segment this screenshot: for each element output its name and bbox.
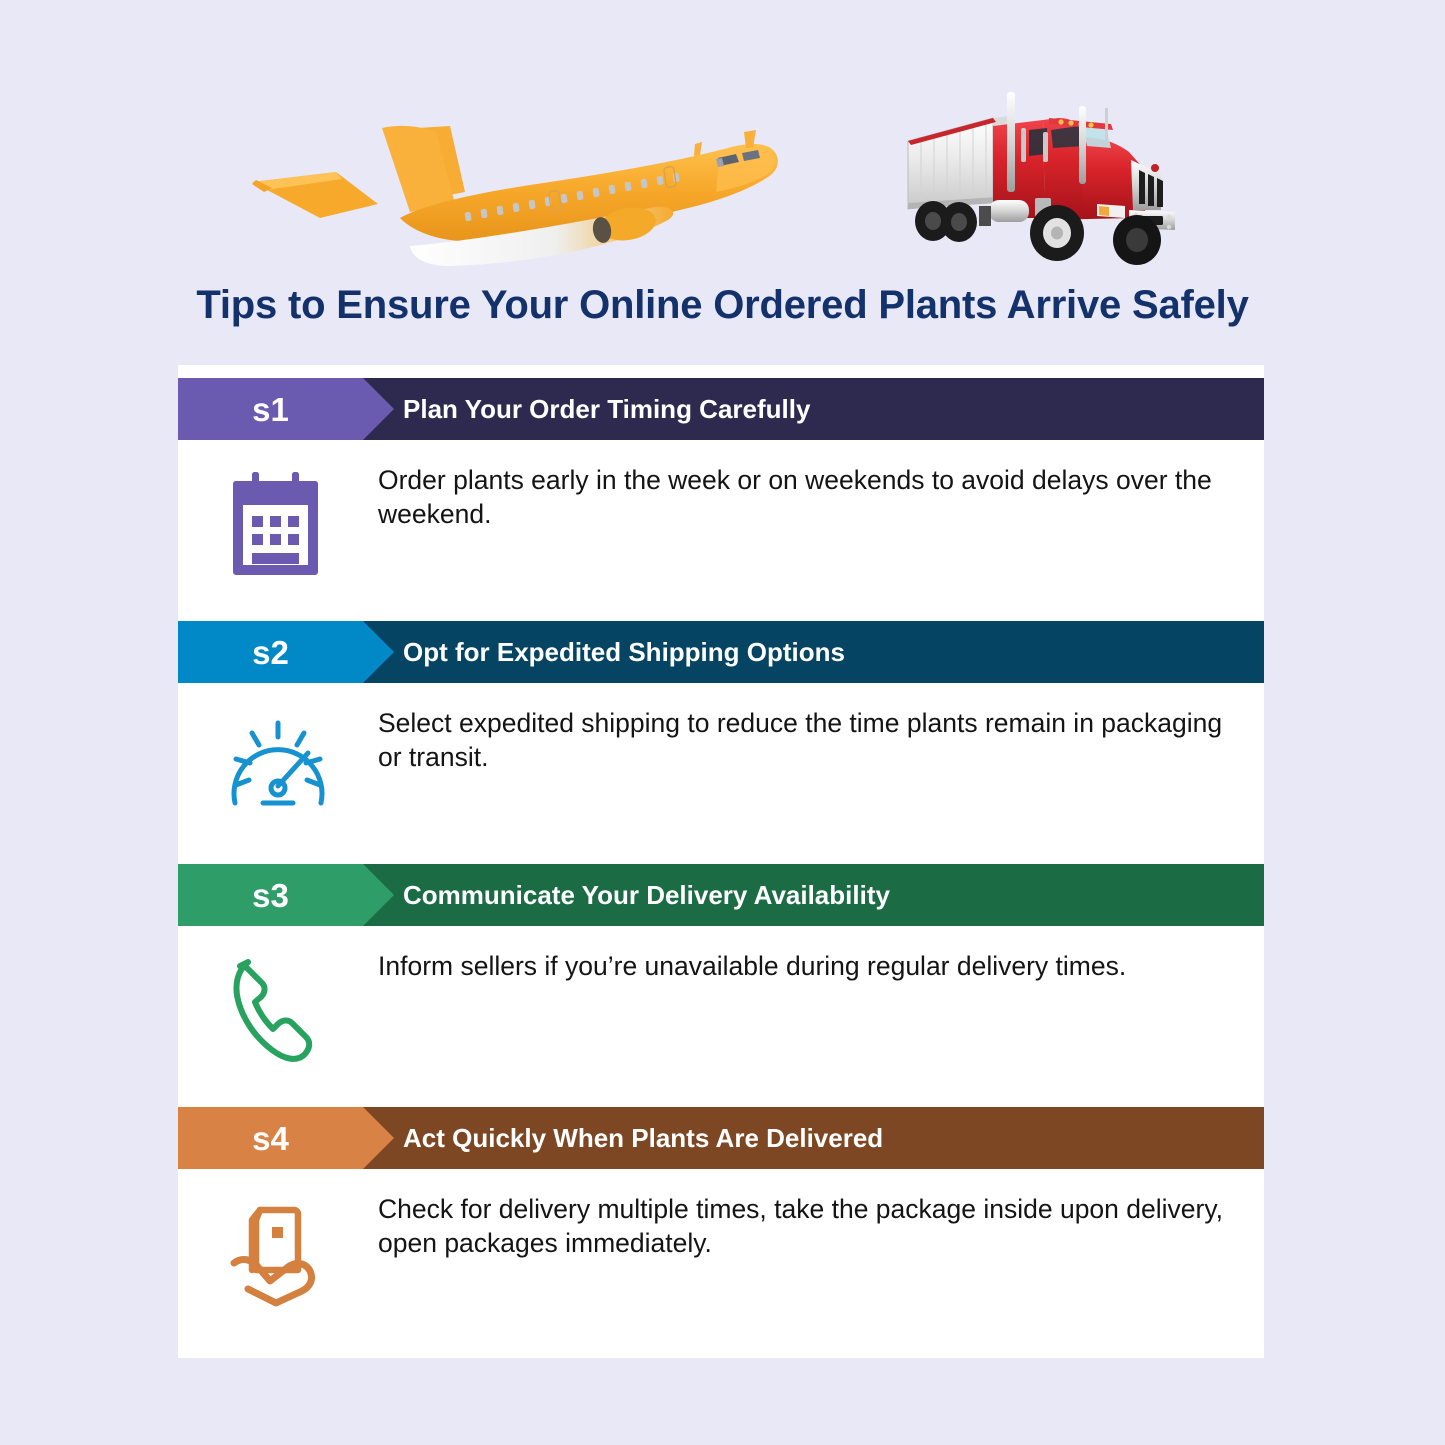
package-in-hand-icon (178, 1193, 378, 1307)
step-number-tag: s4 (178, 1107, 363, 1169)
step-title: Plan Your Order Timing Carefully (363, 394, 810, 425)
step-body: Inform sellers if you’re unavailable dur… (178, 926, 1264, 1107)
step-item: s4 Act Quickly When Plants Are Delivered (178, 1107, 1264, 1350)
step-body: Select expedited shipping to reduce the … (178, 683, 1264, 864)
step-number-tag: s1 (178, 378, 363, 440)
step-header-bar: s2 Opt for Expedited Shipping Options (178, 621, 1264, 683)
step-header-bar: s4 Act Quickly When Plants Are Delivered (178, 1107, 1264, 1169)
step-item: s2 Opt for Expedited Shipping Options (178, 621, 1264, 864)
step-number-label: s2 (252, 636, 289, 669)
airplane-illustration (250, 96, 795, 271)
step-title: Communicate Your Delivery Availability (363, 880, 890, 911)
step-item: s3 Communicate Your Delivery Availabilit… (178, 864, 1264, 1107)
step-header-bar: s1 Plan Your Order Timing Carefully (178, 378, 1264, 440)
step-title: Act Quickly When Plants Are Delivered (363, 1123, 883, 1154)
step-body: Order plants early in the week or on wee… (178, 440, 1264, 621)
step-number-label: s3 (252, 879, 289, 912)
step-description: Inform sellers if you’re unavailable dur… (378, 950, 1264, 984)
step-number-tag: s3 (178, 864, 363, 926)
speedometer-icon (178, 707, 378, 813)
step-description: Order plants early in the week or on wee… (378, 464, 1264, 532)
hero-illustrations (0, 0, 1445, 280)
step-title: Opt for Expedited Shipping Options (363, 637, 845, 668)
infographic-page: Tips to Ensure Your Online Ordered Plant… (0, 0, 1445, 1445)
step-body: Check for delivery multiple times, take … (178, 1169, 1264, 1350)
step-header-bar: s3 Communicate Your Delivery Availabilit… (178, 864, 1264, 926)
semi-truck-illustration (893, 78, 1223, 268)
step-item: s1 Plan Your Order Timing Carefully (178, 378, 1264, 621)
step-number-tag: s2 (178, 621, 363, 683)
step-number-label: s1 (252, 393, 289, 426)
steps-card: s1 Plan Your Order Timing Carefully (178, 365, 1264, 1358)
step-description: Select expedited shipping to reduce the … (378, 707, 1264, 775)
page-title: Tips to Ensure Your Online Ordered Plant… (0, 283, 1445, 328)
phone-icon (178, 950, 378, 1066)
step-number-label: s4 (252, 1122, 289, 1155)
calendar-icon (178, 464, 378, 578)
step-description: Check for delivery multiple times, take … (378, 1193, 1264, 1261)
